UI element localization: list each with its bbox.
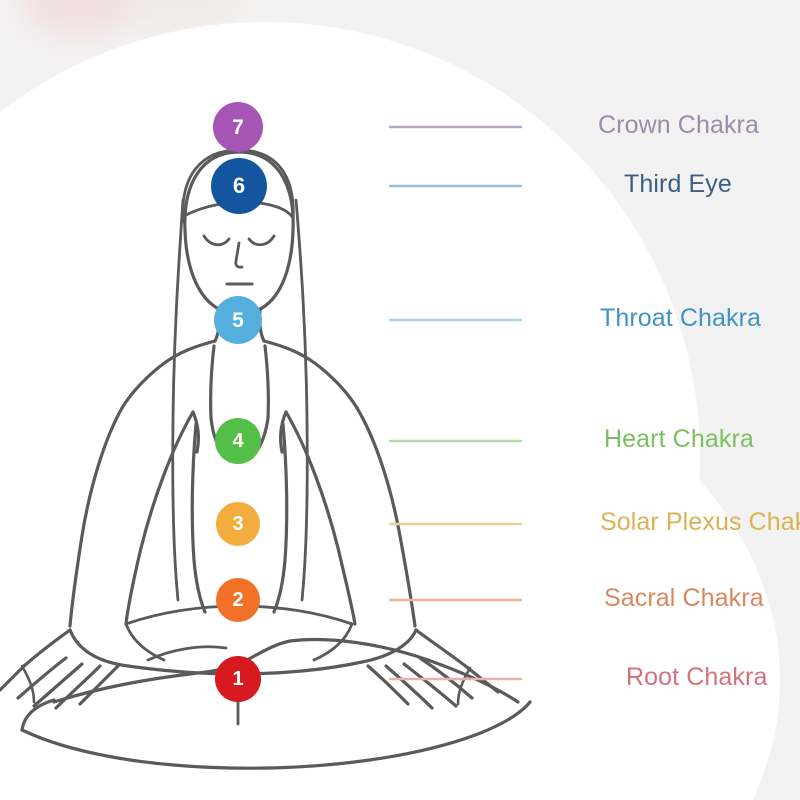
chakra-dot-4[interactable]: 4	[215, 418, 261, 464]
chakra-dot-6-number: 6	[233, 175, 245, 197]
chakra-dot-1[interactable]: 1	[215, 656, 261, 702]
chakra-label-root: Root Chakra	[626, 663, 767, 692]
chakra-dot-3-number: 3	[232, 514, 243, 534]
chakra-dot-5-number: 5	[232, 310, 244, 331]
chakra-label-heart: Heart Chakra	[604, 425, 754, 454]
chakra-dot-2-number: 2	[232, 590, 243, 610]
chakra-dot-5[interactable]: 5	[214, 296, 262, 344]
chakra-dot-7[interactable]: 7	[213, 102, 263, 152]
chakra-label-solar-plexus: Solar Plexus Chakra	[600, 508, 800, 537]
chakra-label-sacral: Sacral Chakra	[604, 584, 764, 613]
chakra-dot-3[interactable]: 3	[216, 502, 260, 546]
chakra-dot-4-number: 4	[232, 431, 243, 451]
chakra-dot-7-number: 7	[232, 117, 244, 138]
chakra-dot-1-number: 1	[232, 669, 243, 689]
chakra-label-third-eye: Third Eye	[624, 170, 732, 199]
chakra-label-throat: Throat Chakra	[600, 304, 761, 333]
chakra-dot-6[interactable]: 6	[211, 158, 267, 214]
chakra-diagram-canvas: 7 6 5 4 3 2 1 Crown Chakra Third Eye Thr…	[0, 0, 800, 800]
chakra-label-crown: Crown Chakra	[598, 111, 759, 140]
chakra-dot-2[interactable]: 2	[216, 578, 260, 622]
